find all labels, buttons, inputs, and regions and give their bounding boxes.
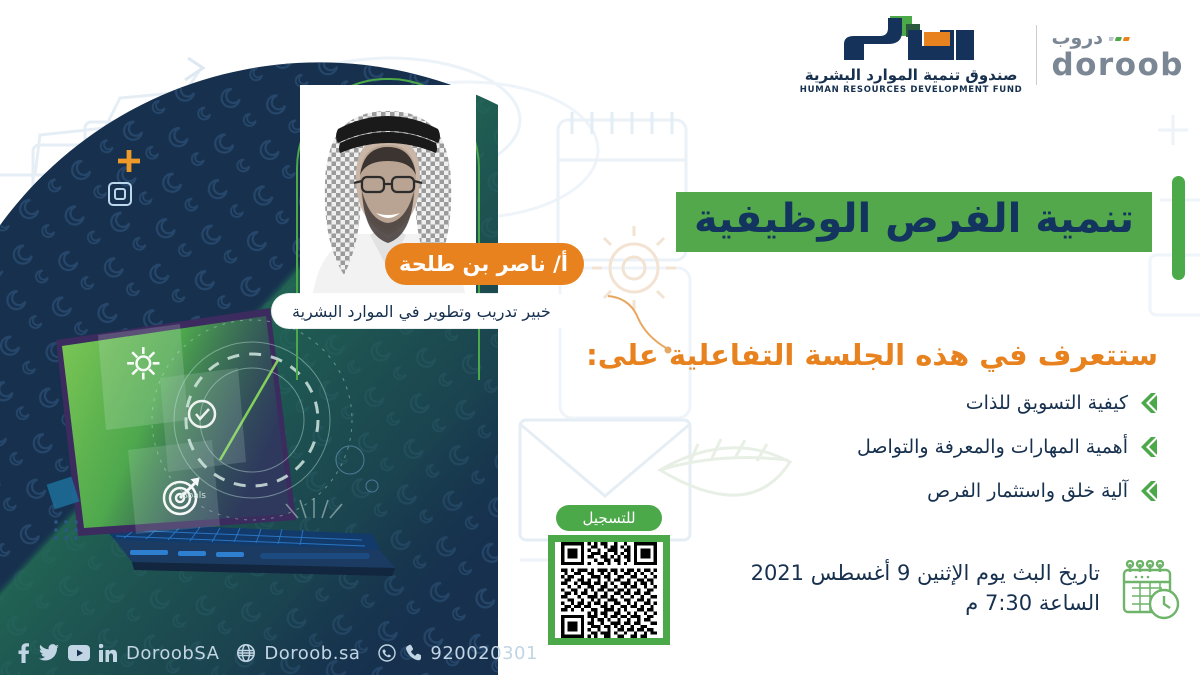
- rounded-square-icon: [108, 182, 132, 206]
- list-item: آلية خلق واستثمار الفرص: [598, 480, 1158, 502]
- social-handle: DoroobSA: [126, 643, 219, 664]
- linkedin-icon[interactable]: [99, 644, 117, 662]
- title-accent-bar: [1172, 176, 1185, 280]
- chevron-left-icon: [1140, 481, 1158, 501]
- poster-canvas: Goals: [0, 0, 1200, 675]
- list-item: أهمية المهارات والمعرفة والتواصل: [598, 436, 1158, 458]
- doroob-arabic: دروب: [1051, 29, 1103, 48]
- speaker-title-pill: خبير تدريب وتطوير في الموارد البشرية: [272, 294, 571, 328]
- doroob-latin: doroob: [1051, 50, 1184, 81]
- chevron-left-icon: [1140, 437, 1158, 457]
- website-url: Doroob.sa: [264, 643, 360, 664]
- list-item: كيفية التسويق للذات: [598, 392, 1158, 414]
- twitter-icon[interactable]: [39, 644, 59, 662]
- goals-label: Goals: [181, 491, 206, 501]
- hrdf-logo: صندوق تنمية الموارد البشرية HUMAN RESOUR…: [800, 14, 1023, 95]
- logo-group: دروب doroob صندوق تنمية الموارد البشرية …: [800, 14, 1184, 95]
- footer-bar: DoroobSA Doroob.sa 920020301: [0, 631, 498, 675]
- agenda-list: كيفية التسويق للذات أهمية المهارات والمع…: [598, 392, 1158, 524]
- hrdf-mark-icon: [838, 14, 984, 64]
- speaker-name-pill: أ/ ناصر بن طلحة: [385, 243, 584, 285]
- agenda-item-text: كيفية التسويق للذات: [966, 392, 1128, 414]
- agenda-heading: ستتعرف في هذه الجلسة التفاعلية على:: [586, 338, 1158, 372]
- whatsapp-icon[interactable]: [378, 644, 396, 662]
- broadcast-time: الساعة 7:30 م: [751, 588, 1100, 618]
- hrdf-arabic-name: صندوق تنمية الموارد البشرية: [805, 66, 1018, 84]
- phone-number: 920020301: [430, 643, 538, 664]
- youtube-icon[interactable]: [68, 645, 90, 661]
- qr-code-image: [555, 542, 663, 638]
- registration-label: للتسجيل: [556, 505, 662, 531]
- qr-code[interactable]: [548, 535, 670, 645]
- doroob-logo: دروب doroob: [1051, 29, 1184, 81]
- calendar-clock-icon: [1118, 560, 1182, 622]
- schedule-block: تاريخ البث يوم الإثنين 9 أغسطس 2021 السا…: [751, 558, 1100, 619]
- phone-icon[interactable]: [405, 644, 421, 662]
- plus-mark-icon: [118, 150, 140, 172]
- facebook-icon[interactable]: [18, 643, 30, 663]
- doroob-dashes-icon: [1109, 34, 1135, 43]
- chevron-left-icon: [1140, 393, 1158, 413]
- agenda-item-text: آلية خلق واستثمار الفرص: [927, 480, 1128, 502]
- speaker-name: أ/ ناصر بن طلحة: [399, 252, 568, 276]
- speaker-job-title: خبير تدريب وتطوير في الموارد البشرية: [292, 302, 551, 321]
- hrdf-english-name: HUMAN RESOURCES DEVELOPMENT FUND: [800, 85, 1023, 95]
- broadcast-date: تاريخ البث يوم الإثنين 9 أغسطس 2021: [751, 558, 1100, 588]
- agenda-item-text: أهمية المهارات والمعرفة والتواصل: [857, 436, 1128, 458]
- page-title: تنمية الفرص الوظيفية: [676, 192, 1152, 252]
- globe-icon[interactable]: [237, 644, 255, 662]
- logo-divider: [1036, 25, 1037, 85]
